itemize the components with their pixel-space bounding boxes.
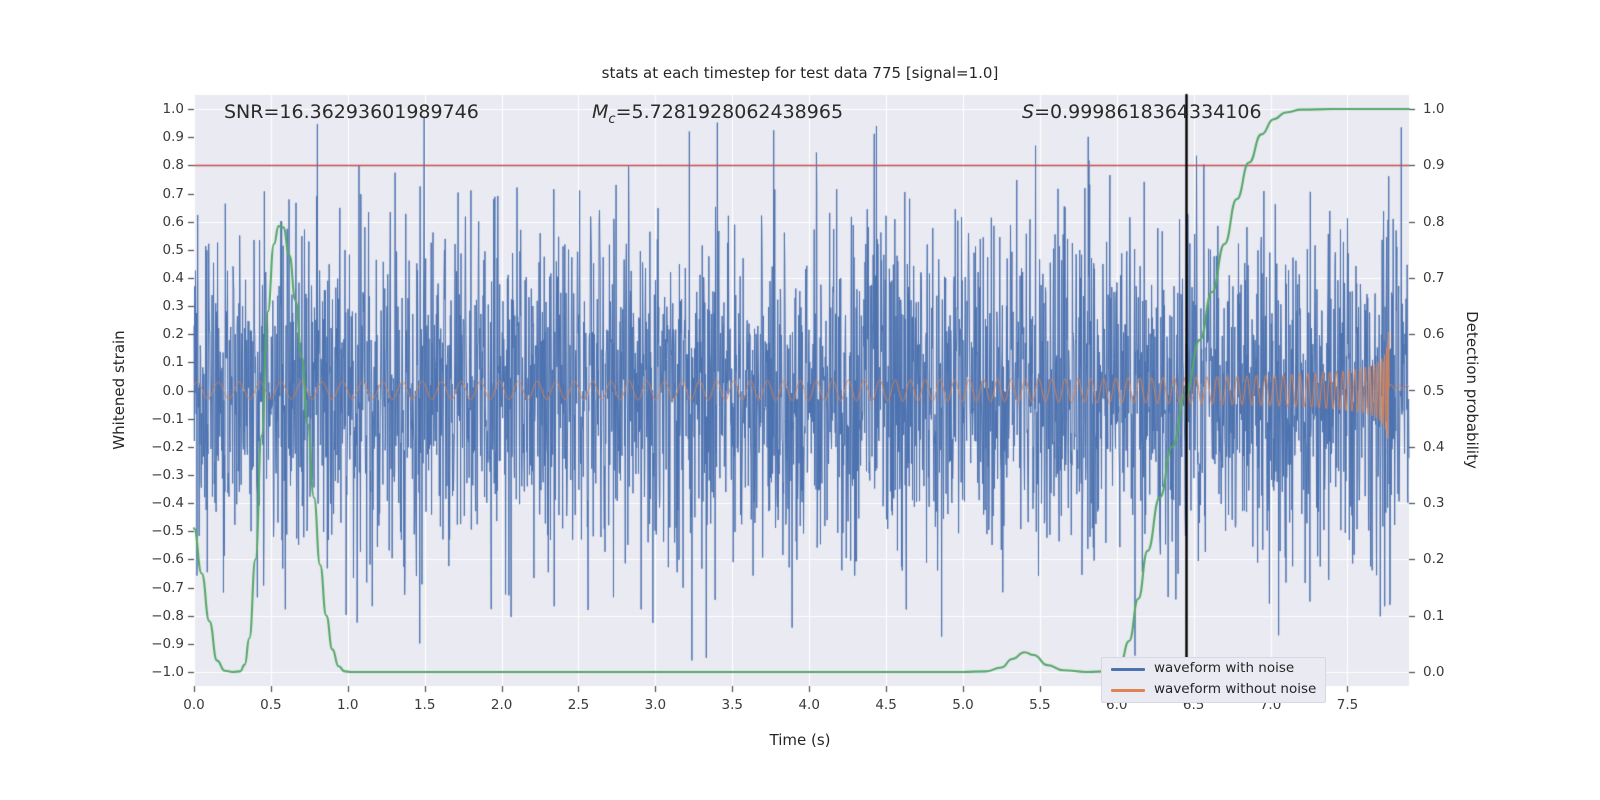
y-tick-left: 1.0 xyxy=(163,101,184,117)
y-tick-right: 0.8 xyxy=(1423,214,1444,230)
y-tick-right: 0.1 xyxy=(1423,608,1444,624)
annotation-snr: SNR=16.36293601989746 xyxy=(224,101,479,123)
y-tick-left: 0.3 xyxy=(163,298,184,314)
y-tick-left: −0.8 xyxy=(151,608,184,624)
x-tick: 3.0 xyxy=(645,697,666,713)
annotation-snr-value: 16.36293601989746 xyxy=(279,101,478,123)
y-tick-right: 0.4 xyxy=(1423,439,1444,455)
legend-swatch-waveform-with-noise xyxy=(1111,668,1145,671)
y-tick-right: 0.7 xyxy=(1423,270,1444,286)
legend-item-waveform-with-noise[interactable]: waveform with noise xyxy=(1102,658,1325,680)
annotation-mc-value: 5.7281928062438965 xyxy=(631,101,843,123)
y-tick-right: 0.9 xyxy=(1423,157,1444,173)
y-tick-right: 0.5 xyxy=(1423,383,1444,399)
y-tick-right: 0.6 xyxy=(1423,326,1444,342)
y-tick-right: 0.3 xyxy=(1423,495,1444,511)
legend-label-waveform-without-noise: waveform without noise xyxy=(1154,681,1316,697)
annotation-score: S=0.9998618364334106 xyxy=(1022,101,1262,123)
y-tick-left: −0.1 xyxy=(151,411,184,427)
y-tick-left: 0.0 xyxy=(163,383,184,399)
annotation-mc-subscript: c xyxy=(608,112,615,127)
x-axis-label: Time (s) xyxy=(770,731,831,749)
annotation-s-symbol: S xyxy=(1022,101,1034,123)
y-tick-right: 0.2 xyxy=(1423,551,1444,567)
x-tick: 7.5 xyxy=(1337,697,1358,713)
x-tick: 0.5 xyxy=(260,697,281,713)
y-tick-left: −0.3 xyxy=(151,467,184,483)
y-tick-left: −0.6 xyxy=(151,551,184,567)
x-tick: 1.0 xyxy=(337,697,358,713)
y-tick-left: 0.7 xyxy=(163,186,184,202)
annotation-mc-eq: = xyxy=(616,101,632,123)
y-tick-left: 0.9 xyxy=(163,129,184,145)
y-tick-left: 0.5 xyxy=(163,242,184,258)
x-tick: 5.5 xyxy=(1029,697,1050,713)
legend-label-waveform-with-noise: waveform with noise xyxy=(1154,660,1294,676)
y-axis-label-right: Detection probability xyxy=(1463,311,1481,469)
x-tick: 0.0 xyxy=(183,697,204,713)
y-tick-left: 0.6 xyxy=(163,214,184,230)
x-tick: 2.5 xyxy=(568,697,589,713)
y-tick-left: −0.4 xyxy=(151,495,184,511)
y-tick-right: 1.0 xyxy=(1423,101,1444,117)
y-tick-left: 0.8 xyxy=(163,157,184,173)
annotation-mc-symbol: M xyxy=(592,101,608,123)
annotation-s-value: 0.9998618364334106 xyxy=(1050,101,1262,123)
legend-swatch-waveform-without-noise xyxy=(1111,689,1145,692)
y-tick-left: −0.5 xyxy=(151,523,184,539)
y-tick-left: −0.2 xyxy=(151,439,184,455)
y-tick-right: 0.0 xyxy=(1423,664,1444,680)
legend-item-waveform-without-noise[interactable]: waveform without noise xyxy=(1102,679,1325,701)
annotation-s-eq: = xyxy=(1034,101,1050,123)
y-tick-left: −0.7 xyxy=(151,580,184,596)
x-tick: 5.0 xyxy=(952,697,973,713)
x-tick: 4.0 xyxy=(798,697,819,713)
annotation-snr-prefix: SNR= xyxy=(224,101,279,123)
page-title: stats at each timestep for test data 775… xyxy=(602,64,999,82)
y-tick-left: −1.0 xyxy=(151,664,184,680)
x-tick: 2.0 xyxy=(491,697,512,713)
x-tick: 3.5 xyxy=(722,697,743,713)
y-tick-left: 0.4 xyxy=(163,270,184,286)
annotation-chirp-mass: Mc=5.7281928062438965 xyxy=(592,101,843,127)
x-tick: 4.5 xyxy=(875,697,896,713)
x-tick: 1.5 xyxy=(414,697,435,713)
y-tick-left: 0.1 xyxy=(163,354,184,370)
y-tick-left: −0.9 xyxy=(151,636,184,652)
y-tick-left: 0.2 xyxy=(163,326,184,342)
figure-root: stats at each timestep for test data 775… xyxy=(0,0,1600,800)
y-axis-label-left: Whitened strain xyxy=(110,330,128,449)
legend: waveform with noise waveform without noi… xyxy=(1101,657,1326,703)
